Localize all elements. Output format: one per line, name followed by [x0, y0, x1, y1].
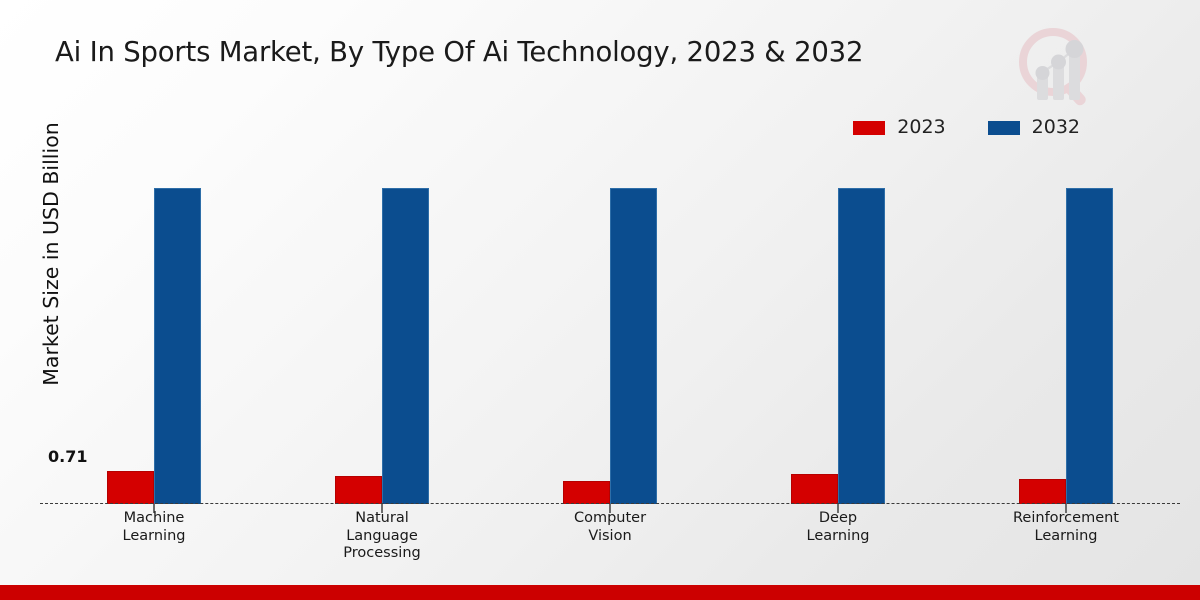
- legend-label-2032: 2032: [1032, 118, 1080, 137]
- bar-2032[interactable]: [1066, 188, 1113, 504]
- bar-group: [268, 160, 496, 504]
- bar-2023[interactable]: [335, 476, 382, 504]
- category-label-line: Processing: [268, 545, 496, 563]
- bar-pair: [1019, 188, 1113, 504]
- bar-2023[interactable]: [107, 471, 154, 504]
- bar-group: [496, 160, 724, 504]
- bar-pair: [107, 188, 201, 504]
- bar-2023[interactable]: [1019, 479, 1066, 504]
- bar-2032[interactable]: [382, 188, 429, 504]
- legend-label-2023: 2023: [897, 118, 945, 137]
- bar-2032[interactable]: [154, 188, 201, 504]
- category-label-line: Deep: [724, 510, 952, 528]
- legend-item-2023[interactable]: 2023: [853, 118, 945, 137]
- bar-2023[interactable]: [563, 481, 610, 504]
- magnifying-glass-bar-chart-icon: [1009, 18, 1105, 114]
- bar-value-label: 0.71: [48, 447, 87, 466]
- category-label-line: Language: [268, 528, 496, 546]
- bottom-accent-strip: [0, 585, 1200, 600]
- category-label-line: Natural: [268, 510, 496, 528]
- category-label-line: Computer: [496, 510, 724, 528]
- x-axis-category-label: MachineLearning: [40, 510, 268, 572]
- bar-2032[interactable]: [610, 188, 657, 504]
- bar-pair: [791, 188, 885, 504]
- category-label-line: Learning: [952, 528, 1180, 546]
- watermark-logo: [1009, 18, 1105, 114]
- x-axis-category-label: ComputerVision: [496, 510, 724, 572]
- plot-area: 0.71: [40, 160, 1180, 504]
- category-label-line: Reinforcement: [952, 510, 1180, 528]
- bar-group: 0.71: [40, 160, 268, 504]
- bar-2032[interactable]: [838, 188, 885, 504]
- category-label-line: Machine: [40, 510, 268, 528]
- bar-2023[interactable]: [791, 474, 838, 504]
- bar-pair: [563, 188, 657, 504]
- chart-legend: 2023 2032: [853, 118, 1080, 137]
- legend-swatch-2023-icon: [853, 121, 885, 135]
- category-label-line: Vision: [496, 528, 724, 546]
- legend-swatch-2032-icon: [988, 121, 1020, 135]
- category-label-line: Learning: [40, 528, 268, 546]
- bar-group: [952, 160, 1180, 504]
- bar-pair: [335, 188, 429, 504]
- x-axis-baseline: [40, 503, 1180, 504]
- x-axis-category-label: DeepLearning: [724, 510, 952, 572]
- bar-group: [724, 160, 952, 504]
- x-axis-tick-labels: MachineLearningNaturalLanguageProcessing…: [40, 510, 1180, 572]
- bar-groups: 0.71: [40, 160, 1180, 504]
- page-title: Ai In Sports Market, By Type Of Ai Techn…: [55, 36, 863, 68]
- legend-item-2032[interactable]: 2032: [988, 118, 1080, 137]
- chart-canvas: Ai In Sports Market, By Type Of Ai Techn…: [0, 0, 1200, 600]
- x-axis-category-label: ReinforcementLearning: [952, 510, 1180, 572]
- x-axis-category-label: NaturalLanguageProcessing: [268, 510, 496, 572]
- category-label-line: Learning: [724, 528, 952, 546]
